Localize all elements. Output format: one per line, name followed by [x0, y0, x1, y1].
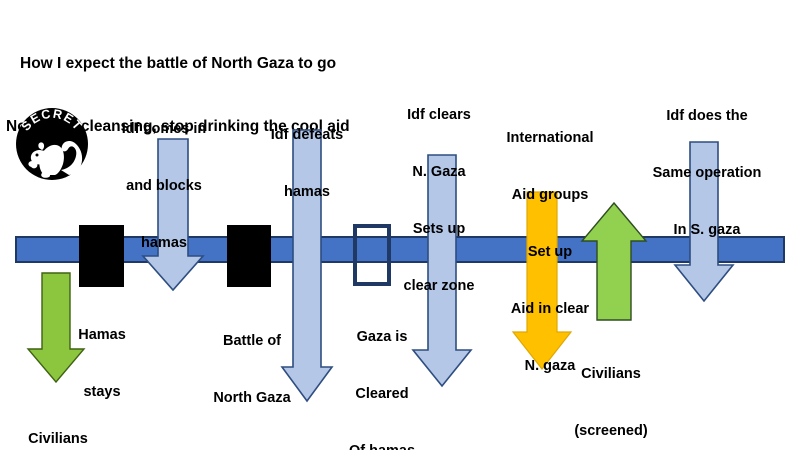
label-idf-same-operation: Idf does the Same operation In S. gaza — [631, 69, 783, 278]
label-line: International — [483, 129, 617, 148]
label-line: (screened) — [504, 422, 718, 441]
label-line: Of hamas — [329, 442, 435, 450]
label-line: Aid groups — [483, 186, 617, 205]
label-gaza-is-cleared: Gaza is Cleared Of hamas And bombs — [329, 290, 435, 450]
label-line: In S. gaza — [631, 221, 783, 240]
label-battle-of-north-gaza: Battle of North Gaza — [196, 294, 308, 446]
timeline-left-cap — [15, 236, 17, 263]
label-line: Battle of — [196, 332, 308, 351]
label-line: Hamas — [58, 326, 146, 345]
label-line: Idf clears — [387, 106, 491, 125]
label-line: North Gaza — [196, 389, 308, 408]
label-line: Cleared — [329, 385, 435, 404]
label-line: Gaza is — [329, 328, 435, 347]
meme-canvas: How I expect the battle of North Gaza to… — [0, 0, 800, 450]
timeline-right-cap — [783, 236, 785, 263]
label-line: Sets up — [387, 220, 491, 239]
label-line: Same operation — [631, 164, 783, 183]
label-line: Idf does the — [631, 107, 783, 126]
label-idf-defeats-hamas: Idf defeats hamas — [249, 88, 365, 240]
label-line: Aid in clear — [483, 300, 617, 319]
label-line: Set up — [483, 243, 617, 262]
label-line: Idf defeats — [249, 126, 365, 145]
label-idf-comes-in: Idf comes in and blocks hamas — [104, 82, 224, 291]
label-line: Civilians — [6, 430, 110, 449]
label-line: and blocks — [104, 177, 224, 196]
title-line-1: How I expect the battle of North Gaza to… — [0, 53, 430, 74]
label-line: N. Gaza — [387, 163, 491, 182]
label-line: Civilians — [504, 365, 718, 384]
secret-squirrel-badge: SECRET — [14, 107, 90, 181]
label-line: hamas — [104, 234, 224, 253]
squirrel-icon: SECRET — [14, 107, 90, 181]
label-civilians-leave: Civilians leave North gaza — [6, 392, 110, 450]
label-civilians-return: Civilians (screened) return to North gaz… — [504, 327, 718, 450]
label-line: hamas — [249, 183, 365, 202]
label-line: Idf comes in — [104, 120, 224, 139]
